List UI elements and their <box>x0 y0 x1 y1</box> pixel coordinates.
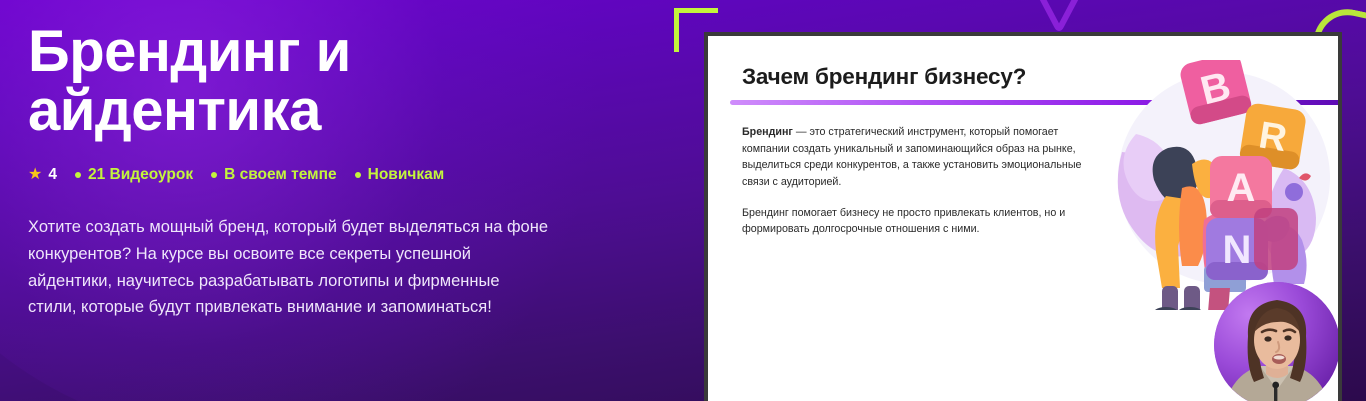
hero-left-column: Брендинг и айдентика ★ 4 21 Видеоурок В … <box>28 22 648 321</box>
page-title: Брендинг и айдентика <box>28 22 448 140</box>
slide-paragraph: Брендинг помогает бизнесу не просто прив… <box>742 205 1102 238</box>
slide-paragraph: Брендинг — это стратегический инструмент… <box>742 124 1102 191</box>
rating-value: 4 <box>48 166 57 184</box>
course-hero-banner: · · · Брендинг и айдентика ★ 4 21 Видеоу… <box>0 0 1366 401</box>
lesson-slide-card[interactable]: Зачем брендинг бизнесу? Брендинг — это с… <box>704 32 1342 401</box>
presenter-webcam-bubble[interactable] <box>1214 282 1340 401</box>
course-meta-row: ★ 4 21 Видеоурок В своем темпе Новичкам <box>28 166 648 184</box>
meta-item-label: 21 Видеоурок <box>88 166 193 184</box>
bullet-icon <box>355 172 361 178</box>
slide-paragraph-text: Брендинг помогает бизнесу не просто прив… <box>742 207 1065 236</box>
svg-text:N: N <box>1223 228 1252 272</box>
bullet-icon <box>211 172 217 178</box>
meta-item-pace: В своем темпе <box>211 166 337 184</box>
slide-body: Брендинг — это стратегический инструмент… <box>742 124 1102 252</box>
brand-blocks-illustration: B R A N <box>1106 60 1342 310</box>
bullet-icon <box>75 172 81 178</box>
meta-item-level: Новичкам <box>355 166 445 184</box>
top-cutoff-text: · · · <box>196 0 231 6</box>
slide-paragraph-text: — это стратегический инструмент, который… <box>742 126 1081 188</box>
meta-item-label: Новичкам <box>368 166 445 184</box>
triangle-outline-icon <box>1030 0 1088 34</box>
slide-paragraph-lead: Брендинг <box>742 126 793 138</box>
slide-title: Зачем брендинг бизнесу? <box>742 64 1026 90</box>
meta-item-label: В своем темпе <box>224 166 337 184</box>
course-description: Хотите создать мощный бренд, который буд… <box>28 214 548 321</box>
svg-text:A: A <box>1227 166 1256 210</box>
star-icon: ★ <box>28 167 42 183</box>
meta-item-lessons: 21 Видеоурок <box>75 166 193 184</box>
